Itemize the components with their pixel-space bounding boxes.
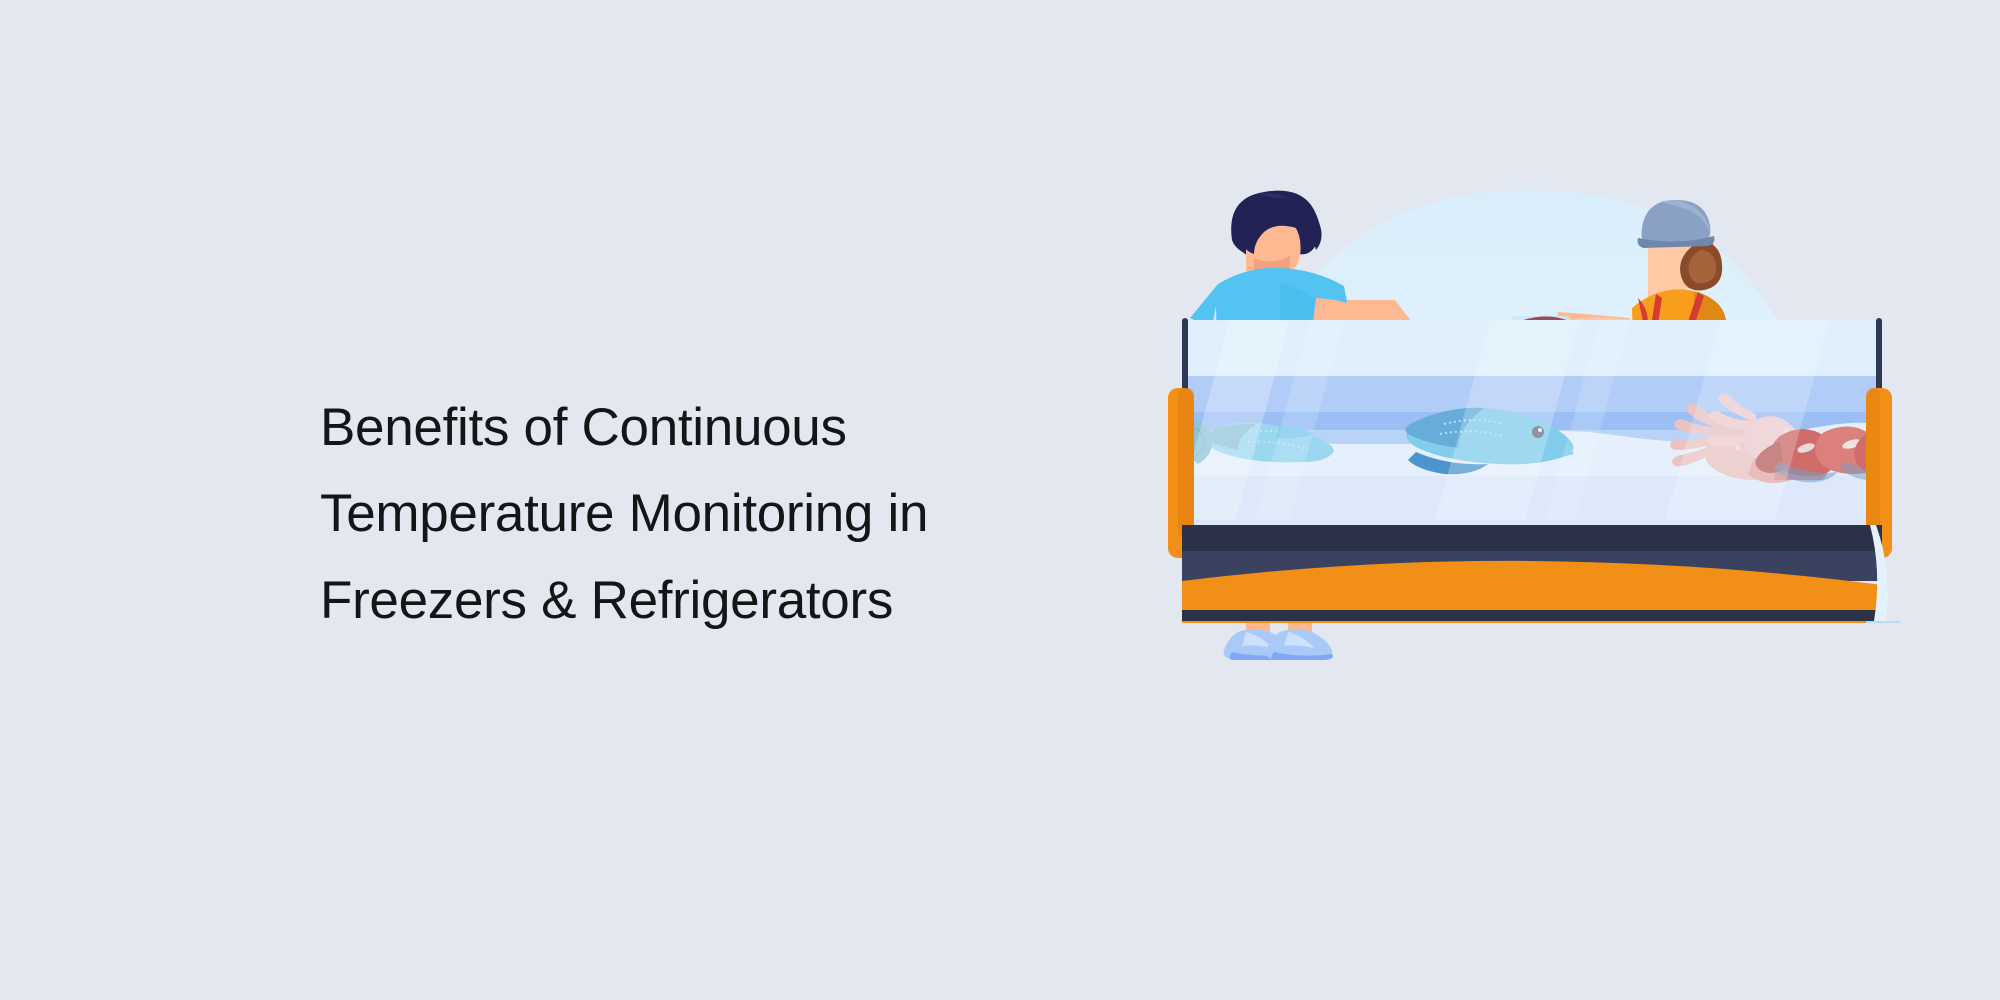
hero-banner: Benefits of Continuous Temperature Monit… bbox=[0, 0, 2000, 1000]
hero-text-block: Benefits of Continuous Temperature Monit… bbox=[320, 385, 1020, 644]
fishmonger-seafood-display-case-illustration bbox=[1160, 180, 1900, 820]
display-case bbox=[1168, 318, 1900, 623]
glass-reflection-overlay bbox=[1174, 320, 1882, 525]
counter-base bbox=[1182, 525, 1900, 623]
page-title: Benefits of Continuous Temperature Monit… bbox=[320, 385, 1020, 644]
